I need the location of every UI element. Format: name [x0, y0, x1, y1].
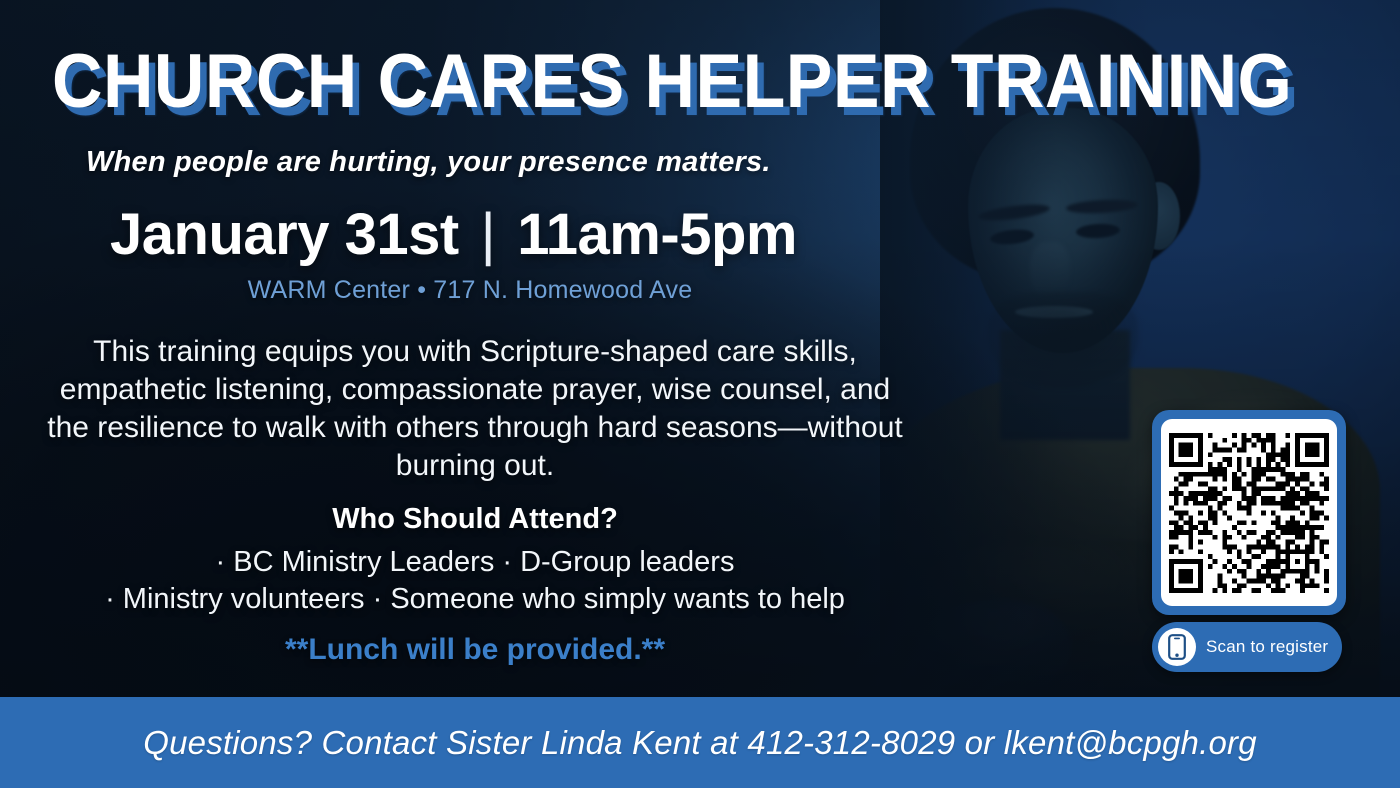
qr-code-frame[interactable] — [1152, 410, 1346, 615]
lunch-note: **Lunch will be provided.** — [10, 633, 940, 667]
scan-to-register-button[interactable]: Scan to register — [1152, 622, 1342, 672]
audience-line-1: · BC Ministry Leaders · D-Group leaders — [10, 543, 940, 581]
qr-code-icon[interactable] — [1169, 433, 1329, 593]
content-column: CHURCH CARES HELPER TRAINING When people… — [0, 0, 960, 700]
tagline: When people are hurting, your presence m… — [86, 146, 906, 179]
description-paragraph: This training equips you with Scripture-… — [40, 333, 910, 485]
scan-to-register-label: Scan to register — [1206, 637, 1328, 657]
flyer-canvas: CHURCH CARES HELPER TRAINING When people… — [0, 0, 1400, 788]
event-date: January 31st — [110, 202, 459, 267]
mobile-phone-icon — [1158, 628, 1196, 666]
date-time-separator: | — [481, 203, 496, 267]
audience-line-2: · Ministry volunteers · Someone who simp… — [10, 580, 940, 618]
qr-registration-block[interactable]: Scan to register — [1152, 410, 1346, 670]
venue-address: WARM Center • 717 N. Homewood Ave — [0, 276, 940, 305]
date-time-line: January 31st|11am-5pm — [110, 203, 890, 267]
contact-footer-bar: Questions? Contact Sister Linda Kent at … — [0, 697, 1400, 788]
qr-code-panel[interactable] — [1161, 419, 1337, 606]
contact-footer-text: Questions? Contact Sister Linda Kent at … — [143, 724, 1257, 762]
who-should-attend-heading: Who Should Attend? — [40, 503, 910, 536]
event-time: 11am-5pm — [517, 202, 797, 267]
page-title: CHURCH CARES HELPER TRAINING — [52, 42, 862, 122]
